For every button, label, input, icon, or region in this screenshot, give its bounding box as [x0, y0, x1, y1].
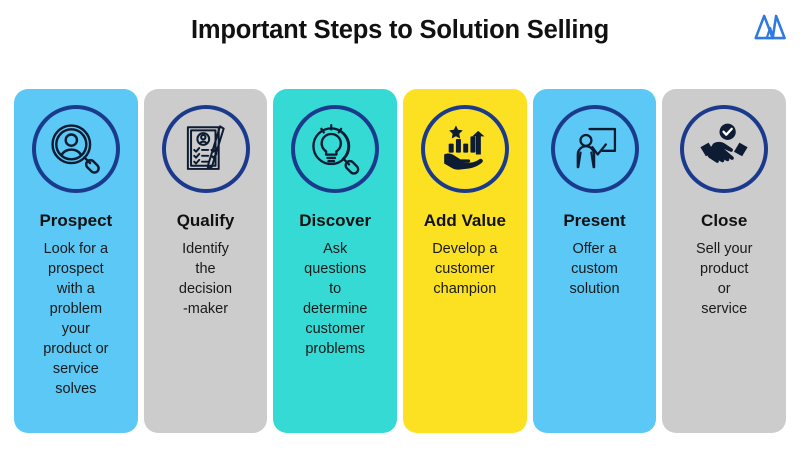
step-body: Look for a prospect with a problem your …	[35, 239, 116, 399]
step-card-close[interactable]: Close Sell your product or service	[662, 89, 786, 433]
step-card-prospect[interactable]: Prospect Look for a prospect with a prob…	[14, 89, 138, 433]
handshake-check-icon	[680, 105, 768, 193]
step-heading: Prospect	[39, 211, 112, 231]
checklist-pen-icon	[162, 105, 250, 193]
step-card-qualify[interactable]: Qualify Identify the decision -maker	[144, 89, 268, 433]
presenter-board-icon	[551, 105, 639, 193]
step-heading: Add Value	[424, 211, 506, 231]
step-card-discover[interactable]: Discover Ask questions to determine cust…	[273, 89, 397, 433]
step-heading: Close	[701, 211, 747, 231]
step-card-present[interactable]: Present Offer a custom solution	[533, 89, 657, 433]
step-body: Ask questions to determine customer prob…	[295, 239, 375, 359]
step-body: Sell your product or service	[688, 239, 760, 319]
step-body: Identify the decision -maker	[171, 239, 240, 319]
header: Important Steps to Solution Selling	[0, 0, 800, 78]
step-heading: Qualify	[177, 211, 235, 231]
mountain-logo	[754, 12, 788, 42]
page-title: Important Steps to Solution Selling	[0, 16, 800, 45]
step-body: Offer a custom solution	[562, 239, 628, 299]
step-heading: Discover	[299, 211, 371, 231]
magnifier-person-icon	[32, 105, 120, 193]
steps-row: Prospect Look for a prospect with a prob…	[14, 89, 786, 433]
step-card-add-value[interactable]: Add Value Develop a customer champion	[403, 89, 527, 433]
magnifier-lightbulb-icon	[291, 105, 379, 193]
step-body: Develop a customer champion	[424, 239, 505, 299]
hand-growth-star-icon	[421, 105, 509, 193]
step-heading: Present	[563, 211, 625, 231]
infographic-page: Important Steps to Solution Selling	[0, 0, 800, 450]
